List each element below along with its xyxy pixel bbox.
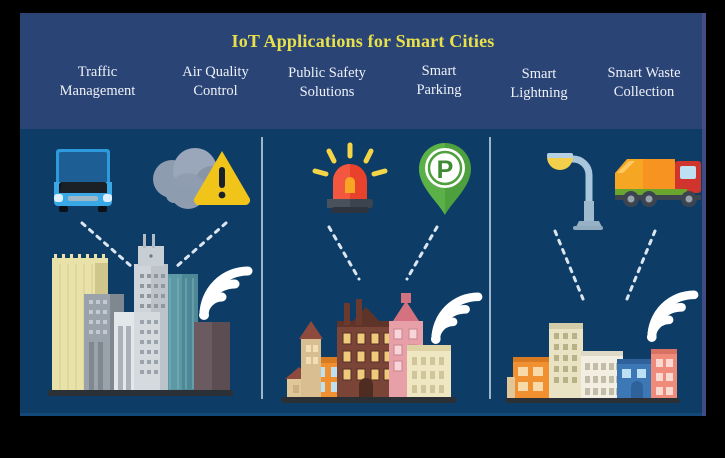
label-line-2: Lightning xyxy=(479,84,599,103)
delivery-truck-icon xyxy=(46,146,120,218)
connector-dotted-line-right xyxy=(399,225,443,285)
wifi-signal-icon xyxy=(430,291,480,345)
svg-text:P: P xyxy=(437,156,454,184)
label-line-2: Management xyxy=(30,82,165,101)
category-label-row: Traffic Management Air Quality Control P… xyxy=(20,63,706,125)
wifi-signal-icon xyxy=(198,265,250,321)
label-traffic-management: Traffic Management xyxy=(30,63,165,101)
label-line-1: Smart Waste xyxy=(582,64,706,83)
page-title: IoT Applications for Smart Cities xyxy=(20,31,706,52)
parking-map-pin-icon: P xyxy=(413,139,477,221)
connector-dotted-line-left xyxy=(549,229,591,305)
wifi-signal-icon xyxy=(646,289,696,343)
label-line-1: Smart xyxy=(479,65,599,84)
label-line-2: Collection xyxy=(582,83,706,102)
panel-traffic-air xyxy=(20,129,261,416)
label-smart-waste-collection: Smart Waste Collection xyxy=(582,64,706,102)
pollution-cloud-warning-icon xyxy=(140,145,252,219)
label-line-1: Traffic xyxy=(30,63,165,82)
emergency-siren-icon xyxy=(307,143,393,221)
label-smart-lightning: Smart Lightning xyxy=(479,65,599,103)
connector-dotted-line-left xyxy=(325,225,367,285)
panel-safety-parking: P xyxy=(263,129,489,416)
slide-canvas: IoT Applications for Smart Cities Traffi… xyxy=(20,13,706,416)
header-band: IoT Applications for Smart Cities Traffi… xyxy=(20,13,706,129)
garbage-truck-icon xyxy=(609,149,706,211)
panel-lighting-waste xyxy=(491,129,706,416)
street-lamp-icon xyxy=(537,141,603,229)
